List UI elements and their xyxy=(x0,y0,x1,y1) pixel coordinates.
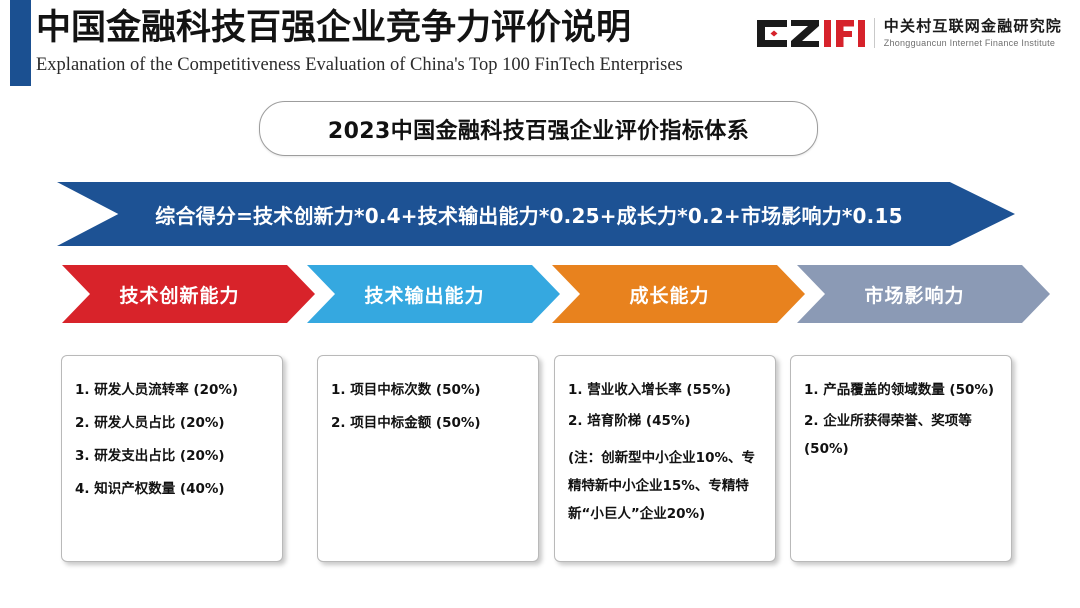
indicator-item: 2. 企业所获得荣誉、奖项等 (50%) xyxy=(804,407,998,463)
logo-divider xyxy=(874,18,875,48)
formula-banner: 综合得分=技术创新力*0.4+技术输出能力*0.25+成长力*0.2+市场影响力… xyxy=(57,182,1015,246)
indicator-item: 1. 研发人员流转率 (20%) xyxy=(75,382,269,399)
page-title-cn: 中国金融科技百强企业竞争力评价说明 xyxy=(36,6,736,50)
indicator-box-technology-innovation: 1. 研发人员流转率 (20%) 2. 研发人员占比 (20%) 3. 研发支出… xyxy=(61,355,283,562)
pillar-chevron-row: 技术创新能力 技术输出能力 成长能力 市场影响力 xyxy=(62,265,1015,323)
page-title-en: Explanation of the Competitiveness Evalu… xyxy=(36,52,736,78)
indicator-item: 2. 项目中标金额 (50%) xyxy=(331,415,525,432)
logo-name-cn: 中关村互联网金融研究院 xyxy=(884,17,1062,35)
pillar-label: 成长能力 xyxy=(629,281,727,308)
indicator-box-technology-output: 1. 项目中标次数 (50%) 2. 项目中标金额 (50%) xyxy=(317,355,539,562)
diagram-title-text: 2023中国金融科技百强企业评价指标体系 xyxy=(328,113,749,145)
header-accent-bar xyxy=(10,0,31,86)
indicator-item: 1. 项目中标次数 (50%) xyxy=(331,382,525,399)
pillar-chevron-technology-innovation: 技术创新能力 xyxy=(62,265,315,323)
pillar-label: 技术输出能力 xyxy=(364,281,502,308)
pillar-label: 技术创新能力 xyxy=(119,281,257,308)
indicator-item: 2. 研发人员占比 (20%) xyxy=(75,415,269,432)
header: 中国金融科技百强企业竞争力评价说明 Explanation of the Com… xyxy=(36,6,736,78)
slide-root: 中国金融科技百强企业竞争力评价说明 Explanation of the Com… xyxy=(0,0,1080,608)
czifi-logo-icon xyxy=(757,20,865,46)
indicator-item: 4. 知识产权数量 (40%) xyxy=(75,481,269,498)
formula-text: 综合得分=技术创新力*0.4+技术输出能力*0.25+成长力*0.2+市场影响力… xyxy=(57,182,1015,246)
indicator-item: 1. 营业收入增长率 (55%) xyxy=(568,382,762,399)
diagram-title-pill: 2023中国金融科技百强企业评价指标体系 xyxy=(259,101,818,156)
indicator-box-growth: 1. 营业收入增长率 (55%) 2. 培育阶梯 (45%) (注：创新型中小企… xyxy=(554,355,776,562)
pillar-chevron-growth: 成长能力 xyxy=(552,265,805,323)
pillar-label: 市场影响力 xyxy=(864,281,982,308)
pillar-chevron-market-influence: 市场影响力 xyxy=(797,265,1050,323)
indicator-box-row: 1. 研发人员流转率 (20%) 2. 研发人员占比 (20%) 3. 研发支出… xyxy=(61,355,1018,562)
logo-text: 中关村互联网金融研究院 Zhongguancun Internet Financ… xyxy=(884,17,1062,50)
indicator-note: (注：创新型中小企业10%、专精特新中小企业15%、专精特新“小巨人”企业20%… xyxy=(568,444,762,528)
indicator-item: 3. 研发支出占比 (20%) xyxy=(75,448,269,465)
pillar-chevron-technology-output: 技术输出能力 xyxy=(307,265,560,323)
institute-logo: 中关村互联网金融研究院 Zhongguancun Internet Financ… xyxy=(757,11,1062,55)
indicator-item: 2. 培育阶梯 (45%) xyxy=(568,413,762,430)
indicator-item: 1. 产品覆盖的领域数量 (50%) xyxy=(804,382,998,399)
logo-name-en: Zhongguancun Internet Finance Institute xyxy=(884,37,1062,50)
indicator-box-market-influence: 1. 产品覆盖的领域数量 (50%) 2. 企业所获得荣誉、奖项等 (50%) xyxy=(790,355,1012,562)
